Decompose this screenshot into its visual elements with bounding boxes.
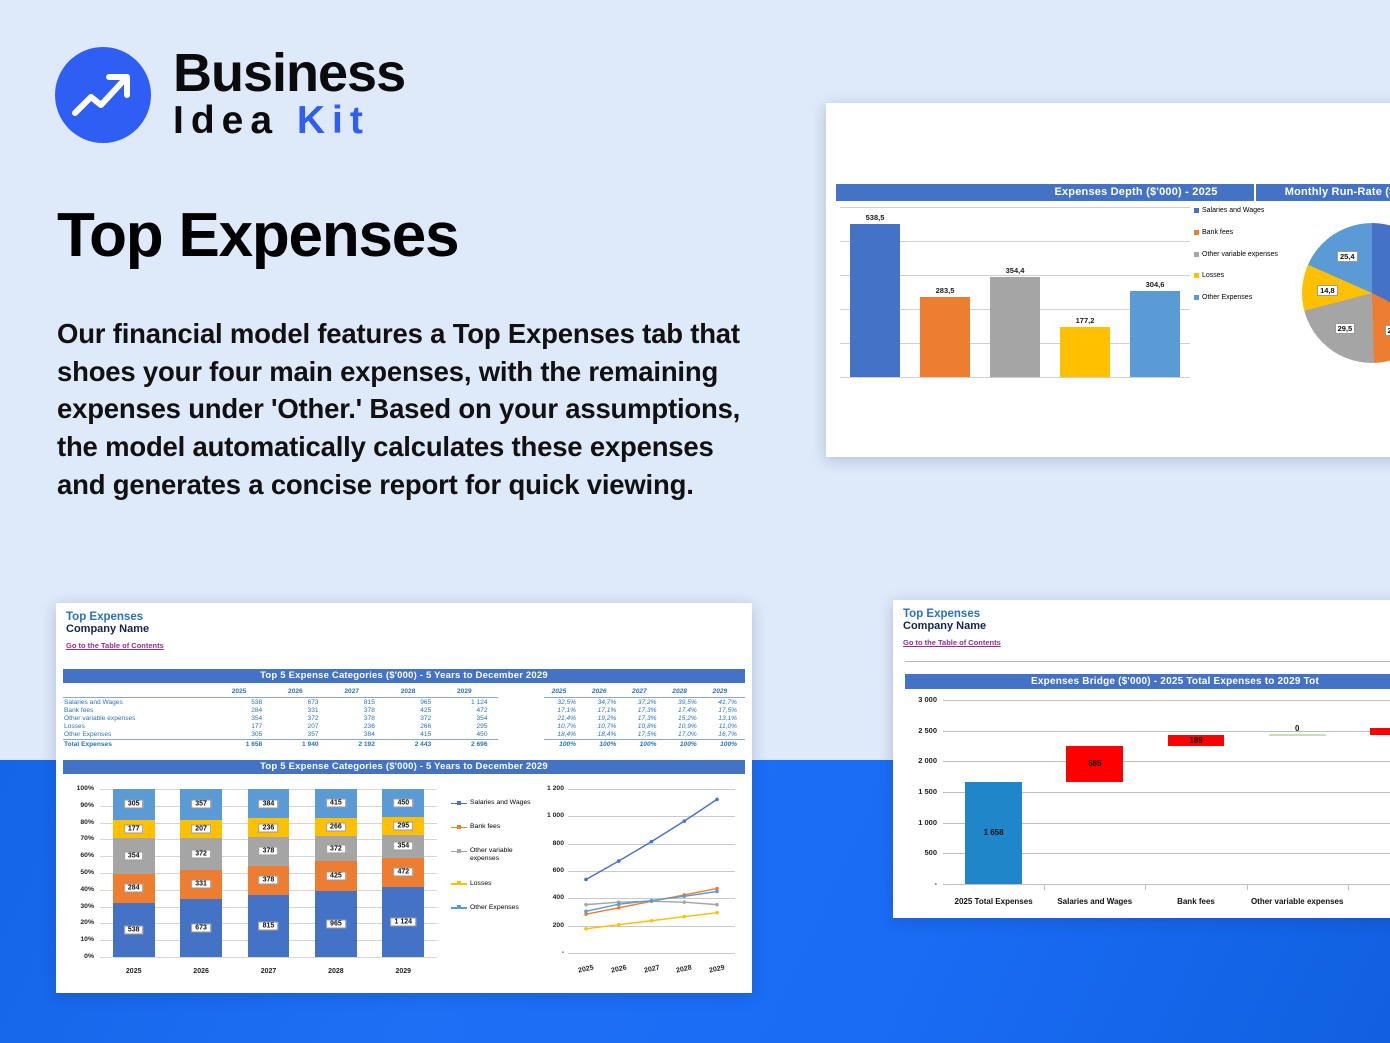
axis-tick-label: 70% [68,835,94,842]
axis-category-label: Salaries and Wages [1044,897,1145,906]
segment-value-label: 266 [326,822,346,831]
segment-value-label: 354 [393,842,413,851]
legend-label: Other Expenses [470,904,519,912]
segment-value-label: 1 124 [391,917,417,926]
panel-c-divider [905,661,1390,662]
table-col-header-pct: 2026 [584,687,624,696]
segment-value-label: 378 [259,847,279,856]
segment-value-label: 372 [191,849,211,858]
expenses-depth-legend: Salaries and WagesBank feesOther variabl… [1194,207,1290,316]
stack-segment: 378 [248,866,290,895]
cell-value: 207 [272,723,328,731]
expenses-depth-bar-chart: 538,5283,5354,4177,2304,6 [840,207,1190,377]
axis-tick-label: 2 500 [901,726,937,735]
plot-area: 5382843541773056733313722073578153783782… [100,789,437,957]
axis-category-label: 2025 [100,968,167,975]
table-col-header: 2029 [441,687,497,696]
segment-value-label: 673 [191,923,211,932]
legend-swatch-icon [1194,230,1199,235]
cell-pct: 39,5% [665,698,705,707]
cell-value: 2 443 [385,740,441,749]
axis-tick-label: 60% [68,852,94,859]
legend-item: Salaries and Wages [451,799,531,807]
axis-category-label: 2025 [572,963,601,976]
cell-value: 372 [272,714,328,722]
cell-pct: 34,7% [584,698,624,707]
bar-value-label: 1 [1370,726,1390,735]
axis-category-label: 2029 [703,963,732,976]
panel-expenses-depth[interactable]: Expenses Depth ($'000) - 2025 Monthly Ru… [826,103,1390,457]
axis-tick-label: 400 [534,894,564,901]
legend-swatch-icon [1194,295,1199,300]
table-col-header-pct: 2028 [665,687,705,696]
axis-tick-label: 1 000 [534,812,564,819]
legend-item: Bank fees [451,823,531,831]
gridline [943,761,1390,762]
cell-value: 965 [385,698,441,707]
gridline [943,884,1390,885]
cell-pct: 100% [584,740,624,749]
panel-top-5-expense-categories[interactable]: Top Expenses Company Name Go to the Tabl… [56,603,752,993]
cell-pct: 10,7% [584,723,624,731]
cell-value: 378 [329,714,385,722]
segment-value-label: 284 [124,884,144,893]
stack-segment: 305 [113,789,155,820]
legend-item: Losses [1194,272,1290,281]
legend-label: Other variable expenses [470,847,531,863]
segment-value-label: 236 [259,823,279,832]
legend-item: Other Expenses [1194,294,1290,303]
table-corner [63,687,216,696]
axis-tick-label: 200 [534,922,564,929]
panel-b-sheet-title: Top Expenses [66,611,742,623]
cell-pct: 100% [665,740,705,749]
panel-b-company-name: Company Name [66,623,742,635]
legend-line-marker-icon [451,905,467,911]
axis-tick-label: 600 [534,867,564,874]
axis-tick-label: 1 000 [901,818,937,827]
slide-canvas: Business Idea Kit Top Expenses Our finan… [0,0,1390,1043]
axis-tick-label: 10% [68,936,94,943]
stack-segment: 354 [113,838,155,874]
table-col-header-pct: 2025 [544,687,584,696]
panel-c-chart-title: Expenses Bridge ($'000) - 2025 Total Exp… [905,674,1390,689]
stack-segment: 425 [315,861,357,890]
cell-pct: 100% [544,740,584,749]
cell-value: 450 [441,731,497,740]
stack-segment: 266 [315,818,357,836]
table-col-header: 2026 [272,687,328,696]
cell-value: 425 [385,706,441,714]
pie-value-label: 29,5 [1335,323,1356,334]
cell-pct: 17,3% [624,706,664,714]
table-col-header-pct: 2027 [624,687,664,696]
gridline [840,207,1190,208]
axis-category-label: 2027 [235,968,302,975]
axis-tick-label: 40% [68,886,94,893]
axis-tick [1247,885,1248,890]
legend-item: Other Expenses [451,904,531,912]
segment-value-label: 450 [393,799,413,808]
description-paragraph: Our financial model features a Top Expen… [57,315,757,503]
cell-value: 1 124 [441,698,497,707]
cell-value: 177 [216,723,272,731]
cell-pct: 10,9% [665,723,705,731]
stacked-bar-column: 965425372266415 [315,789,357,957]
legend-label: Bank fees [1202,229,1233,238]
segment-value-label: 372 [326,844,346,853]
stack-segment: 295 [382,817,424,835]
cell-pct: 21,4% [544,714,584,722]
axis-tick-label: 90% [68,802,94,809]
row-label: Losses [63,723,216,731]
table-total-row: Total Expenses1 6581 9402 1922 4432 6961… [63,740,745,749]
row-label: Salaries and Wages [63,698,216,707]
plot-area [568,789,735,953]
growth-arrow-circle-icon [55,47,151,143]
bar-value-label: 177,2 [1055,316,1115,325]
row-label: Other Expenses [63,731,216,740]
stack-segment: 378 [248,837,290,866]
expense-categories-table: 2025202620272028202920252026202720282029… [63,687,745,749]
segment-value-label: 965 [326,919,346,928]
legend-item: Salaries and Wages [1194,207,1290,216]
cell-value: 538 [216,698,272,707]
axis-category-label: 2028 [670,963,699,976]
cell-pct: 10,7% [544,723,584,731]
cell-value: 1 940 [272,740,328,749]
legend-swatch-icon [1194,273,1199,278]
stack-segment: 372 [315,836,357,862]
panel-b-toc-link[interactable]: Go to the Table of Contents [66,641,164,650]
cell-value: 673 [272,698,328,707]
axis-category-label: 2027 [637,963,666,976]
cell-pct: 17,0% [665,731,705,740]
pie-value-label: 25,4 [1337,251,1358,262]
cell-pct: 17,1% [584,706,624,714]
panel-c-company-name: Company Name [903,620,1390,632]
stack-segment: 284 [113,874,155,903]
cell-value: 1 658 [216,740,272,749]
expense-trend-line-chart: 1 2001 000800600400200-20252026202720282… [534,783,739,979]
bar-value-label: 304,6 [1125,280,1185,289]
stacked-bar-column: 1 124472354295450 [382,789,424,957]
axis-tick-label: 1 200 [534,785,564,792]
cell-pct: 19,2% [584,714,624,722]
line-series-layer [568,789,735,953]
axis-tick-label: 80% [68,819,94,826]
cell-pct: 16,7% [705,731,745,740]
segment-value-label: 538 [124,925,144,934]
gridline [943,700,1390,701]
cell-pct: 17,5% [624,731,664,740]
table-col-header-pct: 2029 [705,687,745,696]
cell-pct: 18,4% [544,731,584,740]
legend-label: Bank fees [470,823,500,831]
legend-swatch-icon [1194,208,1199,213]
brand-name-kit: Kit [297,99,370,142]
cell-value: 284 [216,706,272,714]
axis-tick-label: 2 000 [901,756,937,765]
cell-value: 372 [385,714,441,722]
brand-name-secondary: Idea Kit [173,101,405,142]
cell-pct: 37,2% [624,698,664,707]
legend-item: Bank fees [1194,229,1290,238]
page-title: Top Expenses [57,200,458,271]
cell-pct: 18,4% [584,731,624,740]
cell-pct: 15,2% [665,714,705,722]
axis-tick [1145,885,1146,890]
cell-value: 415 [385,731,441,740]
legend-label: Salaries and Wages [1202,207,1264,216]
axis-tick [1348,885,1349,890]
axis-category-label: 2028 [302,968,369,975]
bar-value-label: 189 [1168,736,1225,745]
axis-tick-label: - [901,879,937,888]
table-col-header: 2028 [385,687,441,696]
stacked-bar-column: 815378378236384 [248,789,290,957]
segment-value-label: 207 [191,824,211,833]
table-header-row: 2025202620272028202920252026202720282029 [63,687,745,696]
segment-value-label: 415 [326,799,346,808]
stack-segment: 965 [315,891,357,957]
legend-line-marker-icon [451,848,467,854]
axis-category-label: 2026 [167,968,234,975]
segment-value-label: 425 [326,872,346,881]
table-col-header: 2027 [329,687,385,696]
legend-label: Salaries and Wages [470,799,531,807]
brand-name-idea: Idea [173,99,297,142]
bar-value-label: 283,5 [915,286,975,295]
cell-pct: 17,1% [544,706,584,714]
axis-tick-label: 100% [68,785,94,792]
legend-item: Other variable expenses [451,847,531,863]
cell-value: 384 [329,731,385,740]
bar-value-label: 538,5 [845,213,905,222]
segment-value-label: 378 [259,876,279,885]
segment-value-label: 384 [259,799,279,808]
segment-value-label: 815 [259,921,279,930]
cell-pct: 11,0% [705,723,745,731]
axis-category-label: 2026 [604,963,633,976]
bar [1060,327,1110,377]
cell-value: 815 [329,698,385,707]
bar-value-label: 1 658 [965,828,1022,837]
waterfall-delta-bar [1269,734,1326,737]
table-row: Salaries and Wages5386738159651 12432,5%… [63,698,745,707]
stacked-bar-column: 673331372207357 [180,789,222,957]
panel-a-title-right: Monthly Run-Rate ($'000 [1256,184,1390,201]
stack-segment: 450 [382,789,424,817]
segment-value-label: 295 [393,822,413,831]
pie-value-label: 2 [1385,325,1390,336]
legend-label: Other Expenses [1202,294,1252,303]
legend-line-marker-icon [451,800,467,806]
line-chart-legend: Salaries and WagesBank feesOther variabl… [451,799,531,928]
stacked-bar-chart: 100%90%80%70%60%50%40%30%20%10%0%5382843… [68,783,443,979]
stack-segment: 815 [248,895,290,957]
cell-pct: 13,1% [705,714,745,722]
table-row: Other variable expenses35437237837235421… [63,714,745,722]
segment-value-label: 472 [393,868,413,877]
axis-category-label: 2025 Total Expenses [943,897,1044,906]
bar [920,297,970,377]
cell-value: 331 [272,706,328,714]
stack-segment: 415 [315,789,357,818]
segment-value-label: 177 [124,824,144,833]
plot-area: 1 65858518901 [943,700,1390,884]
panel-c-toc-link[interactable]: Go to the Table of Contents [903,638,1001,647]
cell-value: 472 [441,706,497,714]
cell-pct: 17,4% [665,706,705,714]
gridline [840,377,1190,378]
axis-category-label: 2029 [370,968,437,975]
legend-label: Losses [470,880,492,888]
pie-value-label: 14,8 [1317,285,1338,296]
cell-value: 266 [385,723,441,731]
axis-tick-label: 20% [68,919,94,926]
cell-pct: 100% [624,740,664,749]
cell-value: 305 [216,731,272,740]
stack-segment: 331 [180,870,222,899]
row-label: Bank fees [63,706,216,714]
stacked-bar-column: 538284354177305 [113,789,155,957]
row-label: Other variable expenses [63,714,216,722]
bar [990,277,1040,377]
axis-tick-label: 3 000 [901,695,937,704]
table-row: Other Expenses30535738441545018,4%18,4%1… [63,731,745,740]
gridline [100,957,437,958]
panel-b-header: Top Expenses Company Name Go to the Tabl… [56,603,752,655]
stack-segment: 384 [248,789,290,818]
stack-segment: 357 [180,789,222,820]
legend-line-marker-icon [451,824,467,830]
cell-pct: 17,5% [705,706,745,714]
row-label: Total Expenses [63,740,216,749]
legend-label: Other variable expenses [1202,251,1278,260]
stack-segment: 472 [382,858,424,887]
table-row: Bank fees28433137842547217,1%17,1%17,3%1… [63,706,745,714]
segment-value-label: 354 [124,851,144,860]
gridline [568,953,735,954]
cell-value: 354 [441,714,497,722]
cell-pct: 32,5% [544,698,584,707]
stack-segment: 673 [180,899,222,957]
brand-name-primary: Business [173,48,405,99]
panel-b-chart-title: Top 5 Expense Categories ($'000) - 5 Yea… [63,760,745,774]
cell-pct: 10,8% [624,723,664,731]
cell-value: 378 [329,706,385,714]
axis-tick [1044,885,1045,890]
cell-value: 2 696 [441,740,497,749]
cell-value: 2 192 [329,740,385,749]
bar-value-label: 354,4 [985,266,1045,275]
panel-c-header: Top Expenses Company Name Go to the Tabl… [893,600,1390,652]
segment-value-label: 331 [191,880,211,889]
table-col-header: 2025 [216,687,272,696]
cell-pct: 17,3% [624,714,664,722]
segment-value-label: 357 [191,800,211,809]
legend-label: Losses [1202,272,1224,281]
cell-value: 357 [272,731,328,740]
panel-b-table-title: Top 5 Expense Categories ($'000) - 5 Yea… [63,669,745,683]
legend-item: Losses [451,880,531,888]
panel-c-sheet-title: Top Expenses [903,608,1390,620]
monthly-run-rate-pie-chart: 229,514,825,4 [1302,223,1390,363]
stack-segment: 236 [248,818,290,836]
expenses-bridge-waterfall-chart: 3 0002 5002 0001 5001 000500-1 658585189… [901,696,1390,910]
legend-line-marker-icon [451,881,467,887]
bar [1130,291,1180,377]
bar-value-label: 0 [1269,724,1326,733]
cell-pct: 100% [705,740,745,749]
cell-value: 295 [441,723,497,731]
cell-value: 354 [216,714,272,722]
cell-value: 236 [329,723,385,731]
bar [850,224,900,377]
stack-segment: 354 [382,835,424,857]
axis-tick-label: 50% [68,869,94,876]
stack-segment: 372 [180,838,222,870]
bar-value-label: 585 [1066,759,1123,768]
legend-swatch-icon [1194,252,1199,257]
axis-tick-label: - [534,949,564,956]
table-row: Losses17720723626629510,7%10,7%10,8%10,9… [63,723,745,731]
axis-tick-label: 500 [901,848,937,857]
panel-expenses-bridge[interactable]: Top Expenses Company Name Go to the Tabl… [893,600,1390,918]
segment-value-label: 305 [124,800,144,809]
pie-slices [1302,223,1390,363]
axis-tick-label: 0% [68,953,94,960]
legend-item: Other variable expenses [1194,251,1290,260]
axis-category-label: Bank fees [1145,897,1246,906]
stack-segment: 1 124 [382,887,424,957]
stack-segment: 177 [113,820,155,838]
brand-logo: Business Idea Kit [55,47,405,143]
stack-segment: 538 [113,903,155,958]
stack-segment: 207 [180,820,222,838]
axis-tick-label: 30% [68,903,94,910]
axis-tick-label: 1 500 [901,787,937,796]
axis-category-label: Los [1348,897,1390,906]
cell-pct: 41,7% [705,698,745,707]
axis-category-label: Other variable expenses [1247,897,1348,906]
axis-tick-label: 800 [534,840,564,847]
